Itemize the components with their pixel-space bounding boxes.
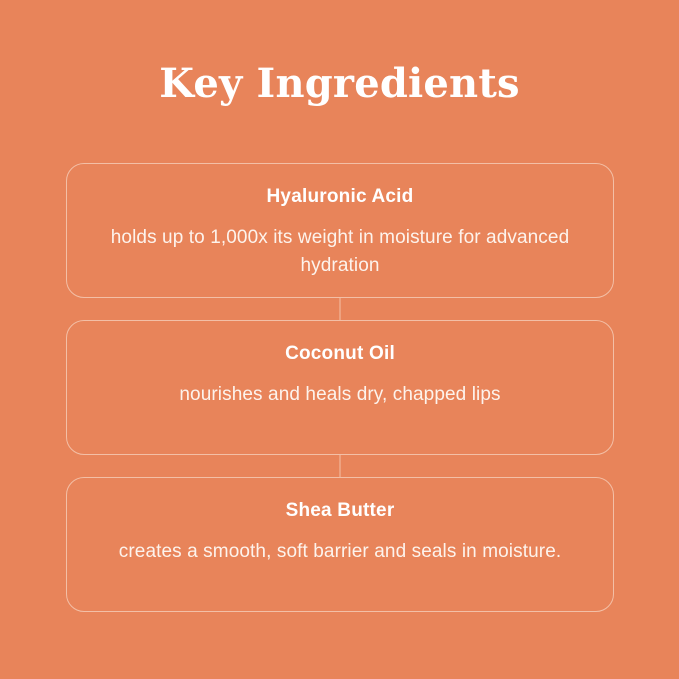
connector-line-1 xyxy=(340,298,341,320)
ingredient-card-coconut-oil: Coconut Oil nourishes and heals dry, cha… xyxy=(66,320,614,455)
ingredient-title: Hyaluronic Acid xyxy=(91,186,589,208)
ingredient-card-shea-butter: Shea Butter creates a smooth, soft barri… xyxy=(66,477,614,612)
ingredients-poster: Key Ingredients Hyaluronic Acid holds up… xyxy=(0,0,679,679)
ingredient-card-hyaluronic-acid: Hyaluronic Acid holds up to 1,000x its w… xyxy=(66,163,614,298)
ingredient-description: holds up to 1,000x its weight in moistur… xyxy=(91,224,589,280)
connector-line-2 xyxy=(340,455,341,477)
ingredient-card-list: Hyaluronic Acid holds up to 1,000x its w… xyxy=(66,163,614,612)
ingredient-title: Coconut Oil xyxy=(91,343,589,365)
page-title: Key Ingredients xyxy=(0,60,679,107)
ingredient-description: creates a smooth, soft barrier and seals… xyxy=(91,538,589,566)
ingredient-title: Shea Butter xyxy=(91,500,589,522)
ingredient-description: nourishes and heals dry, chapped lips xyxy=(91,381,589,409)
